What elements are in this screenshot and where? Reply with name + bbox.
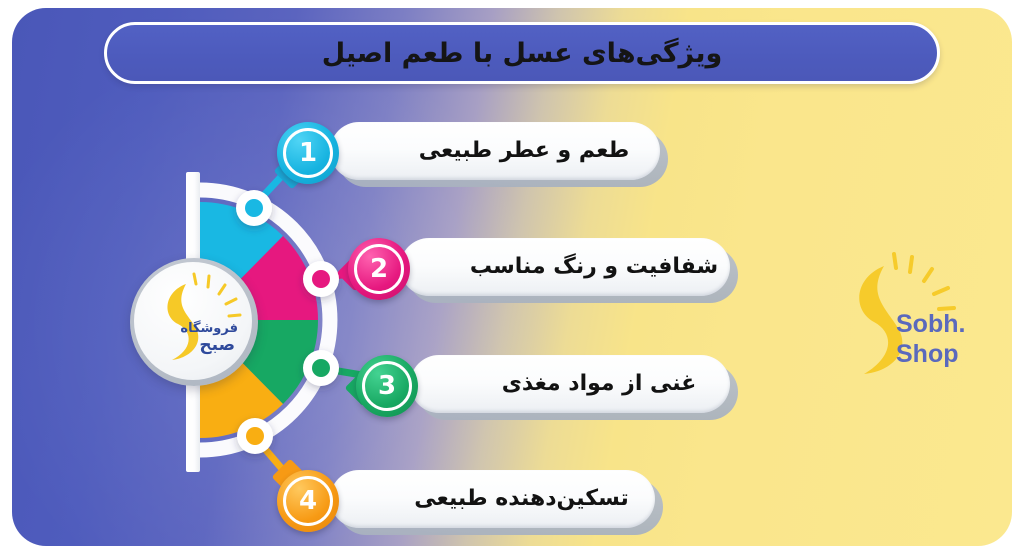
list-item: شفافیت و رنگ مناسب — [400, 238, 730, 302]
list-item: طعم و عطر طبیعی — [330, 122, 660, 186]
item-badge-4[interactable]: 4 — [277, 470, 339, 532]
badge-disc-2: 2 — [348, 238, 410, 300]
list-item: غنی از مواد مغذی — [410, 355, 730, 419]
item-label-1: طعم و عطر طبیعی — [419, 140, 630, 162]
center-logo-line1: فروشگاه — [180, 322, 238, 335]
watermark-line1: Sobh. — [896, 312, 965, 337]
badge-disc-1: 1 — [277, 122, 339, 184]
arc-node-1 — [236, 190, 272, 226]
item-label-3: غنی از مواد مغذی — [502, 373, 697, 395]
watermark-logo: Sobh. Shop — [838, 248, 988, 398]
arc-node-2 — [303, 261, 339, 297]
page-title: ویژگی‌های عسل با طعم اصیل — [322, 40, 723, 67]
badge-number-1: 1 — [299, 140, 317, 166]
item-label-4: تسکین‌دهنده طبیعی — [414, 488, 628, 510]
list-item: تسکین‌دهنده طبیعی — [330, 470, 655, 534]
item-pill-4[interactable]: تسکین‌دهنده طبیعی — [330, 470, 655, 528]
item-badge-2[interactable]: 2 — [348, 238, 410, 300]
item-badge-3[interactable]: 3 — [356, 355, 418, 417]
center-logo-line2: صبح — [199, 337, 235, 354]
item-pill-1[interactable]: طعم و عطر طبیعی — [330, 122, 660, 180]
infographic-canvas: ویژگی‌های عسل با طعم اصیل — [0, 0, 1024, 560]
item-label-2: شفافیت و رنگ مناسب — [470, 256, 718, 278]
item-pill-2[interactable]: شفافیت و رنگ مناسب — [400, 238, 730, 296]
badge-number-3: 3 — [378, 373, 396, 399]
sun-rays-icon — [894, 254, 954, 309]
badge-number-4: 4 — [299, 488, 317, 514]
arc-node-4 — [237, 418, 273, 454]
item-badge-1[interactable]: 1 — [277, 122, 339, 184]
badge-disc-3: 3 — [356, 355, 418, 417]
arc-node-3 — [303, 350, 339, 386]
item-pill-3[interactable]: غنی از مواد مغذی — [410, 355, 730, 413]
center-logo: فروشگاه صبح — [134, 262, 252, 380]
badge-number-2: 2 — [370, 256, 388, 282]
sun-rays-icon — [194, 274, 240, 316]
title-banner: ویژگی‌های عسل با طعم اصیل — [104, 22, 940, 84]
watermark-line2: Shop — [896, 342, 959, 367]
badge-disc-4: 4 — [277, 470, 339, 532]
